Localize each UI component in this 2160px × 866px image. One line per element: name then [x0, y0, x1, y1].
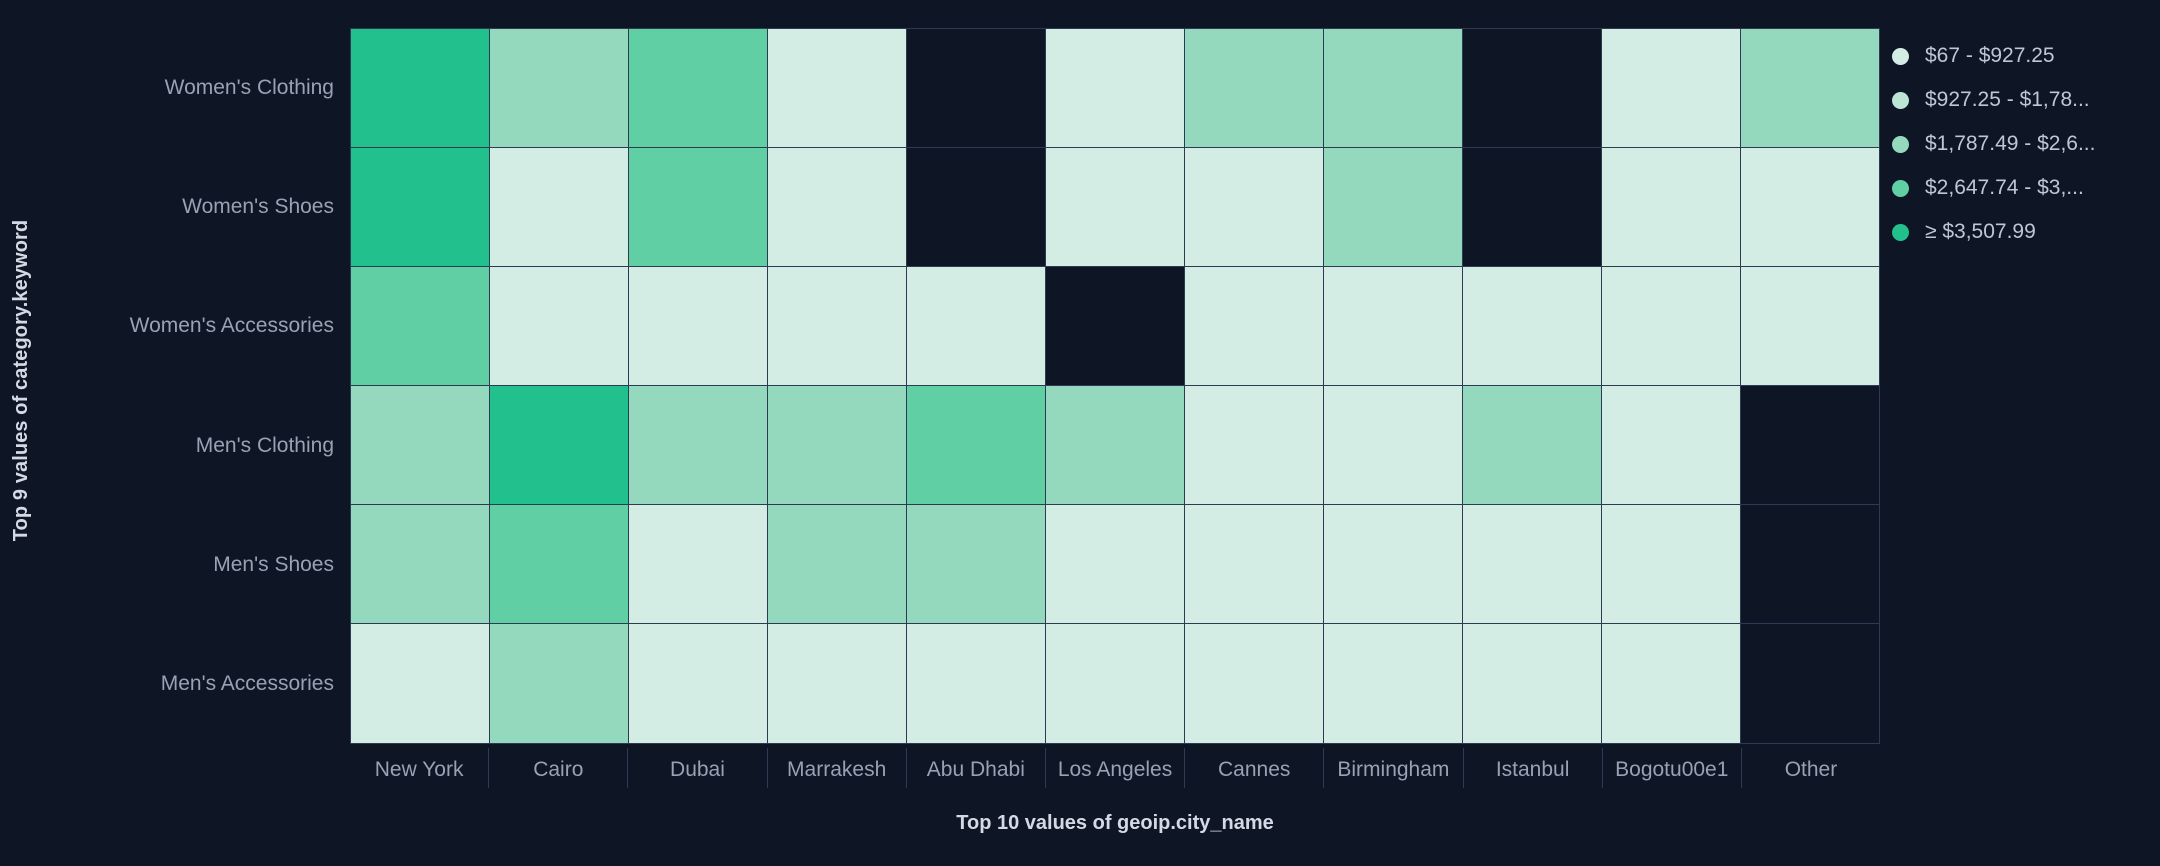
legend-item[interactable]: $1,787.49 - $2,6...	[1892, 122, 2152, 166]
heatmap-cell[interactable]	[1324, 505, 1463, 624]
x-axis-tick-label: Other	[1741, 748, 1880, 788]
y-axis-tick-labels: Women's ClothingWomen's ShoesWomen's Acc…	[44, 28, 350, 744]
x-axis-tick-label: Bogotu00e1	[1602, 748, 1741, 788]
legend-label: ≥ $3,507.99	[1925, 220, 2036, 244]
heatmap-cell[interactable]	[1602, 386, 1741, 505]
x-axis-tick-label: Cairo	[488, 748, 627, 788]
heatmap-cell[interactable]	[768, 29, 907, 148]
heatmap-cell[interactable]	[1463, 505, 1602, 624]
heatmap-cell[interactable]	[1463, 267, 1602, 386]
heatmap-cell[interactable]	[768, 148, 907, 267]
heatmap-cell[interactable]	[629, 505, 768, 624]
heatmap-cell[interactable]	[1741, 29, 1879, 148]
heatmap-cell[interactable]	[1046, 29, 1185, 148]
heatmap-cell[interactable]	[1463, 29, 1602, 148]
legend-label: $927.25 - $1,78...	[1925, 88, 2090, 112]
heatmap-cell[interactable]	[1185, 505, 1324, 624]
x-axis-tick-label: Marrakesh	[767, 748, 906, 788]
heatmap-cell[interactable]	[1741, 148, 1879, 267]
heatmap-cell[interactable]	[1741, 267, 1879, 386]
legend-item[interactable]: $67 - $927.25	[1892, 34, 2152, 78]
legend: $67 - $927.25$927.25 - $1,78...$1,787.49…	[1892, 34, 2152, 254]
legend-swatch-icon	[1892, 180, 1909, 197]
x-axis-tick-label: Los Angeles	[1045, 748, 1184, 788]
heatmap-cell[interactable]	[1324, 29, 1463, 148]
heatmap-visualization: Top 9 values of category.keyword Women's…	[0, 0, 2160, 866]
heatmap-cell[interactable]	[1046, 505, 1185, 624]
heatmap-cell[interactable]	[1602, 505, 1741, 624]
legend-label: $67 - $927.25	[1925, 44, 2055, 68]
heatmap-cell[interactable]	[907, 267, 1046, 386]
heatmap-cell[interactable]	[490, 148, 629, 267]
heatmap-cell[interactable]	[490, 624, 629, 743]
heatmap-cell[interactable]	[1602, 148, 1741, 267]
y-axis-tick-label: Women's Accessories	[44, 267, 350, 386]
heatmap-row	[351, 29, 1879, 148]
heatmap-cell[interactable]	[629, 386, 768, 505]
x-axis-tick-labels: New YorkCairoDubaiMarrakeshAbu DhabiLos …	[350, 748, 1880, 788]
heatmap-cell[interactable]	[1463, 386, 1602, 505]
heatmap-cell[interactable]	[1741, 386, 1879, 505]
heatmap-row	[351, 267, 1879, 386]
heatmap-cell[interactable]	[351, 29, 490, 148]
heatmap-cell[interactable]	[351, 386, 490, 505]
heatmap-cell[interactable]	[768, 386, 907, 505]
x-axis-tick-label: Birmingham	[1323, 748, 1462, 788]
heatmap-cell[interactable]	[1741, 624, 1879, 743]
heatmap-cell[interactable]	[1602, 267, 1741, 386]
heatmap-cell[interactable]	[768, 624, 907, 743]
legend-swatch-icon	[1892, 48, 1909, 65]
heatmap-cell[interactable]	[907, 505, 1046, 624]
heatmap-cell[interactable]	[1324, 148, 1463, 267]
heatmap-cell[interactable]	[1324, 624, 1463, 743]
heatmap-cell[interactable]	[907, 624, 1046, 743]
heatmap-cell[interactable]	[1046, 386, 1185, 505]
heatmap-cell[interactable]	[1602, 624, 1741, 743]
heatmap-row	[351, 386, 1879, 505]
heatmap-cell[interactable]	[629, 624, 768, 743]
legend-item[interactable]: ≥ $3,507.99	[1892, 210, 2152, 254]
heatmap-row	[351, 505, 1879, 624]
legend-item[interactable]: $927.25 - $1,78...	[1892, 78, 2152, 122]
heatmap-cell[interactable]	[490, 505, 629, 624]
heatmap-cell[interactable]	[1324, 386, 1463, 505]
legend-swatch-icon	[1892, 92, 1909, 109]
x-axis-tick-label: Cannes	[1184, 748, 1323, 788]
heatmap-cell[interactable]	[1463, 148, 1602, 267]
heatmap-cell[interactable]	[490, 386, 629, 505]
heatmap-cell[interactable]	[768, 505, 907, 624]
heatmap-cell[interactable]	[629, 148, 768, 267]
heatmap-cell[interactable]	[351, 505, 490, 624]
heatmap-plot-area	[350, 28, 1880, 744]
heatmap-cell[interactable]	[1046, 267, 1185, 386]
x-axis-tick-label: Dubai	[627, 748, 766, 788]
y-axis-tick-label: Women's Shoes	[44, 147, 350, 266]
x-axis-title: Top 10 values of geoip.city_name	[350, 812, 1880, 835]
legend-item[interactable]: $2,647.74 - $3,...	[1892, 166, 2152, 210]
legend-swatch-icon	[1892, 224, 1909, 241]
heatmap-cell[interactable]	[490, 267, 629, 386]
heatmap-cell[interactable]	[1185, 267, 1324, 386]
x-axis-tick-label: Istanbul	[1463, 748, 1602, 788]
heatmap-cell[interactable]	[1602, 29, 1741, 148]
y-axis-tick-label: Women's Clothing	[44, 28, 350, 147]
legend-swatch-icon	[1892, 136, 1909, 153]
heatmap-cell[interactable]	[1185, 386, 1324, 505]
heatmap-cell[interactable]	[351, 148, 490, 267]
heatmap-cell[interactable]	[907, 386, 1046, 505]
x-axis-tick-label: Abu Dhabi	[906, 748, 1045, 788]
heatmap-row	[351, 148, 1879, 267]
y-axis-tick-label: Men's Clothing	[44, 386, 350, 505]
heatmap-cell[interactable]	[1741, 505, 1879, 624]
heatmap-row	[351, 624, 1879, 743]
heatmap-cell[interactable]	[1046, 624, 1185, 743]
heatmap-cell[interactable]	[1185, 624, 1324, 743]
heatmap-cell[interactable]	[907, 29, 1046, 148]
y-axis-title-label: Top 9 values of category.keyword	[11, 219, 34, 540]
heatmap-cell[interactable]	[351, 624, 490, 743]
legend-label: $1,787.49 - $2,6...	[1925, 132, 2095, 156]
heatmap-cell[interactable]	[490, 29, 629, 148]
y-axis-tick-label: Men's Accessories	[44, 625, 350, 744]
x-axis-tick-label: New York	[350, 748, 488, 788]
heatmap-cell[interactable]	[1463, 624, 1602, 743]
heatmap-cell[interactable]	[1185, 29, 1324, 148]
heatmap-cell[interactable]	[768, 267, 907, 386]
heatmap-cell[interactable]	[1185, 148, 1324, 267]
heatmap-cell[interactable]	[1046, 148, 1185, 267]
heatmap-cell[interactable]	[351, 267, 490, 386]
heatmap-cell[interactable]	[1324, 267, 1463, 386]
heatmap-cell[interactable]	[629, 267, 768, 386]
y-axis-tick-label: Men's Shoes	[44, 505, 350, 624]
heatmap-cell[interactable]	[907, 148, 1046, 267]
legend-label: $2,647.74 - $3,...	[1925, 176, 2084, 200]
y-axis-title: Top 9 values of category.keyword	[0, 0, 44, 760]
heatmap-cell[interactable]	[629, 29, 768, 148]
